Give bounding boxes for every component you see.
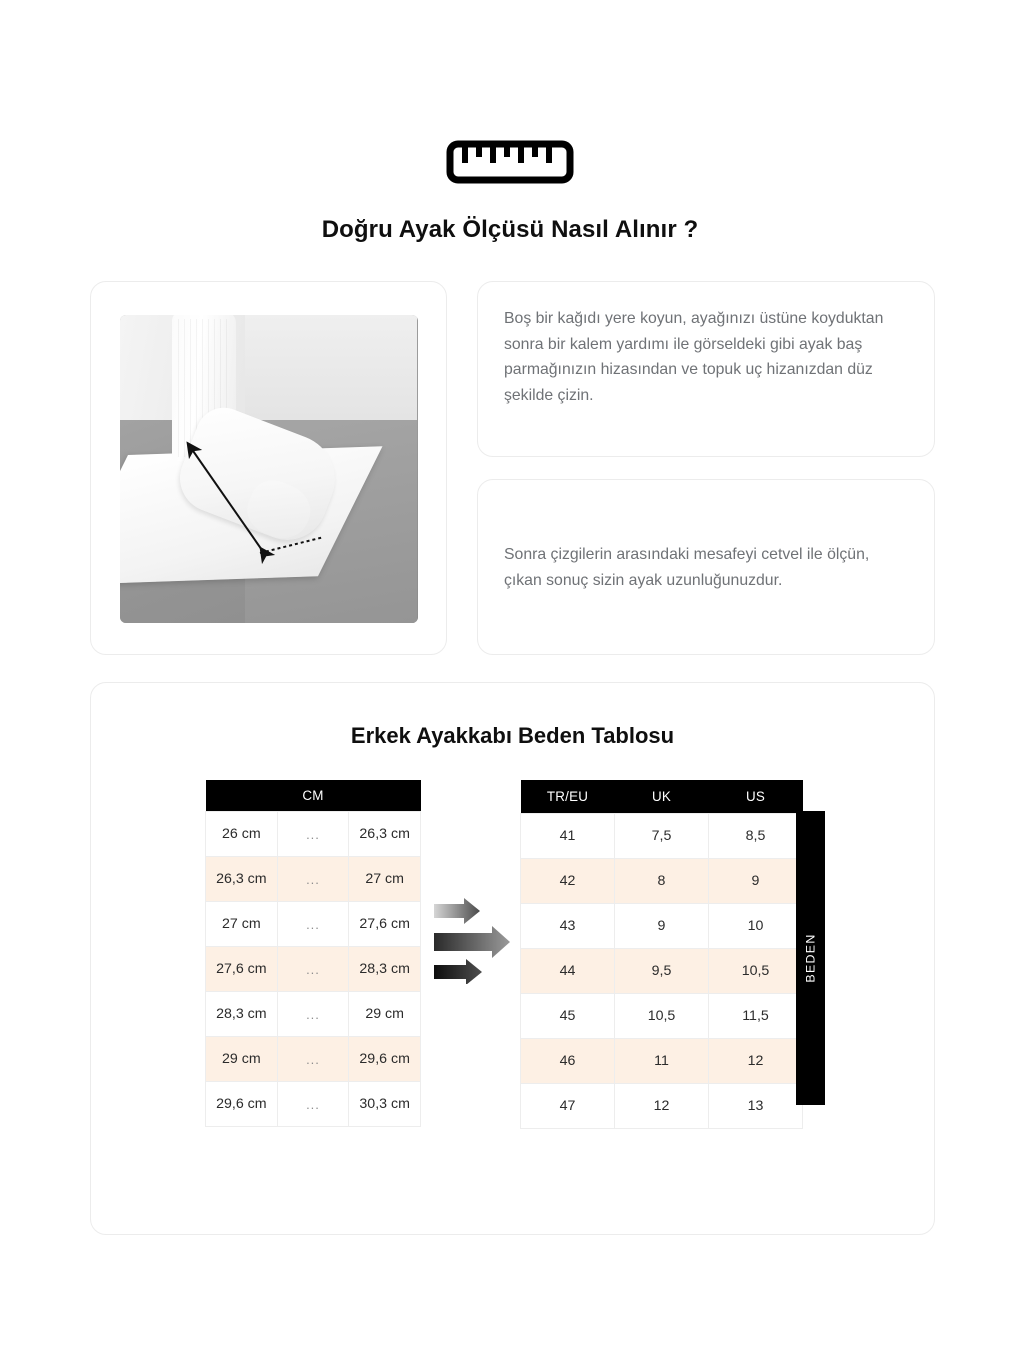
cm-range-to: 29,6 cm: [349, 1037, 421, 1082]
size-table-header-row: TR/EUUKUS: [521, 780, 803, 814]
size-chart-title: Erkek Ayakkabı Beden Tablosu: [91, 723, 934, 749]
size-conversion-table: TR/EUUKUS 417,58,5428943910449,510,54510…: [520, 780, 803, 1129]
cm-range-separator: ...: [277, 947, 349, 992]
size-table-cell: 12: [615, 1084, 709, 1129]
size-table-row: 43910: [521, 904, 803, 949]
size-table-cell: 13: [709, 1084, 803, 1129]
instruction-card-2: Sonra çizgilerin arasındaki mesafeyi cet…: [477, 479, 935, 655]
size-table-cell: 45: [521, 994, 615, 1039]
size-table-row: 417,58,5: [521, 814, 803, 859]
cm-range-from: 26,3 cm: [206, 857, 278, 902]
cm-table-row: 29 cm...29,6 cm: [206, 1037, 421, 1082]
instruction-text-2: Sonra çizgilerin arasındaki mesafeyi cet…: [504, 542, 908, 593]
cm-table-header: CM: [206, 780, 421, 812]
cm-range-from: 29,6 cm: [206, 1082, 278, 1127]
instruction-text-1: Boş bir kağıdı yere koyun, ayağınızı üst…: [504, 306, 908, 408]
size-table-column-header: UK: [615, 780, 709, 814]
size-table-cell: 10,5: [615, 994, 709, 1039]
cm-table-row: 26 cm...26,3 cm: [206, 812, 421, 857]
cm-range-from: 28,3 cm: [206, 992, 278, 1037]
size-table-cell: 41: [521, 814, 615, 859]
size-tables-wrapper: CM 26 cm...26,3 cm26,3 cm...27 cm27 cm..…: [91, 780, 934, 1120]
cm-range-to: 27 cm: [349, 857, 421, 902]
page-title: Doğru Ayak Ölçüsü Nasıl Alınır ?: [0, 216, 1020, 244]
size-table-row: 4510,511,5: [521, 994, 803, 1039]
instruction-card-1: Boş bir kağıdı yere koyun, ayağınızı üst…: [477, 281, 935, 457]
size-table-column-header: US: [709, 780, 803, 814]
instructions-section: Boş bir kağıdı yere koyun, ayağınızı üst…: [90, 281, 935, 655]
cm-table-row: 27,6 cm...28,3 cm: [206, 947, 421, 992]
cm-range-to: 28,3 cm: [349, 947, 421, 992]
cm-range-separator: ...: [277, 1082, 349, 1127]
cm-range-from: 27,6 cm: [206, 947, 278, 992]
instruction-cards: Boş bir kağıdı yere koyun, ayağınızı üst…: [477, 281, 935, 655]
cm-table-body: 26 cm...26,3 cm26,3 cm...27 cm27 cm...27…: [206, 812, 421, 1127]
cm-table-row: 26,3 cm...27 cm: [206, 857, 421, 902]
size-table-cell: 9: [709, 859, 803, 904]
size-table-row: 461112: [521, 1039, 803, 1084]
size-table-cell: 47: [521, 1084, 615, 1129]
size-table-column-header: TR/EU: [521, 780, 615, 814]
cm-range-from: 29 cm: [206, 1037, 278, 1082]
cm-range-to: 30,3 cm: [349, 1082, 421, 1127]
size-table-cell: 9: [615, 904, 709, 949]
size-table-cell: 10: [709, 904, 803, 949]
foot-on-paper-photo: [120, 315, 418, 623]
size-table-cell: 8: [615, 859, 709, 904]
beden-label-text: BEDEN: [804, 933, 818, 982]
size-table-row: 471213: [521, 1084, 803, 1129]
size-table-cell: 12: [709, 1039, 803, 1084]
foot-measure-photo-card: [90, 281, 447, 655]
size-table-row: 449,510,5: [521, 949, 803, 994]
cm-range-table: CM 26 cm...26,3 cm26,3 cm...27 cm27 cm..…: [205, 780, 421, 1127]
cm-range-separator: ...: [277, 992, 349, 1037]
size-table-cell: 42: [521, 859, 615, 904]
beden-side-label: BEDEN: [796, 811, 825, 1105]
cm-table-row: 27 cm...27,6 cm: [206, 902, 421, 947]
ruler-icon: [446, 140, 574, 184]
size-table-cell: 43: [521, 904, 615, 949]
size-table-cell: 8,5: [709, 814, 803, 859]
size-chart-card: Erkek Ayakkabı Beden Tablosu CM 26 cm...…: [90, 682, 935, 1235]
cm-range-from: 27 cm: [206, 902, 278, 947]
cm-table-row: 29,6 cm...30,3 cm: [206, 1082, 421, 1127]
size-table-cell: 11,5: [709, 994, 803, 1039]
size-table-row: 4289: [521, 859, 803, 904]
cm-range-separator: ...: [277, 857, 349, 902]
cm-range-separator: ...: [277, 902, 349, 947]
measure-arrow-icon: [120, 315, 418, 623]
size-table-cell: 10,5: [709, 949, 803, 994]
cm-range-separator: ...: [277, 812, 349, 857]
cm-range-to: 26,3 cm: [349, 812, 421, 857]
ruler-icon-container: [0, 140, 1020, 184]
size-table-cell: 9,5: [615, 949, 709, 994]
size-table-body: 417,58,5428943910449,510,54510,511,54611…: [521, 814, 803, 1129]
size-table-cell: 7,5: [615, 814, 709, 859]
cm-range-to: 29 cm: [349, 992, 421, 1037]
cm-range-to: 27,6 cm: [349, 902, 421, 947]
triple-arrow-right-icon: [434, 898, 524, 984]
cm-range-separator: ...: [277, 1037, 349, 1082]
size-table-cell: 44: [521, 949, 615, 994]
size-table-cell: 46: [521, 1039, 615, 1084]
size-table-cell: 11: [615, 1039, 709, 1084]
cm-table-row: 28,3 cm...29 cm: [206, 992, 421, 1037]
cm-range-from: 26 cm: [206, 812, 278, 857]
